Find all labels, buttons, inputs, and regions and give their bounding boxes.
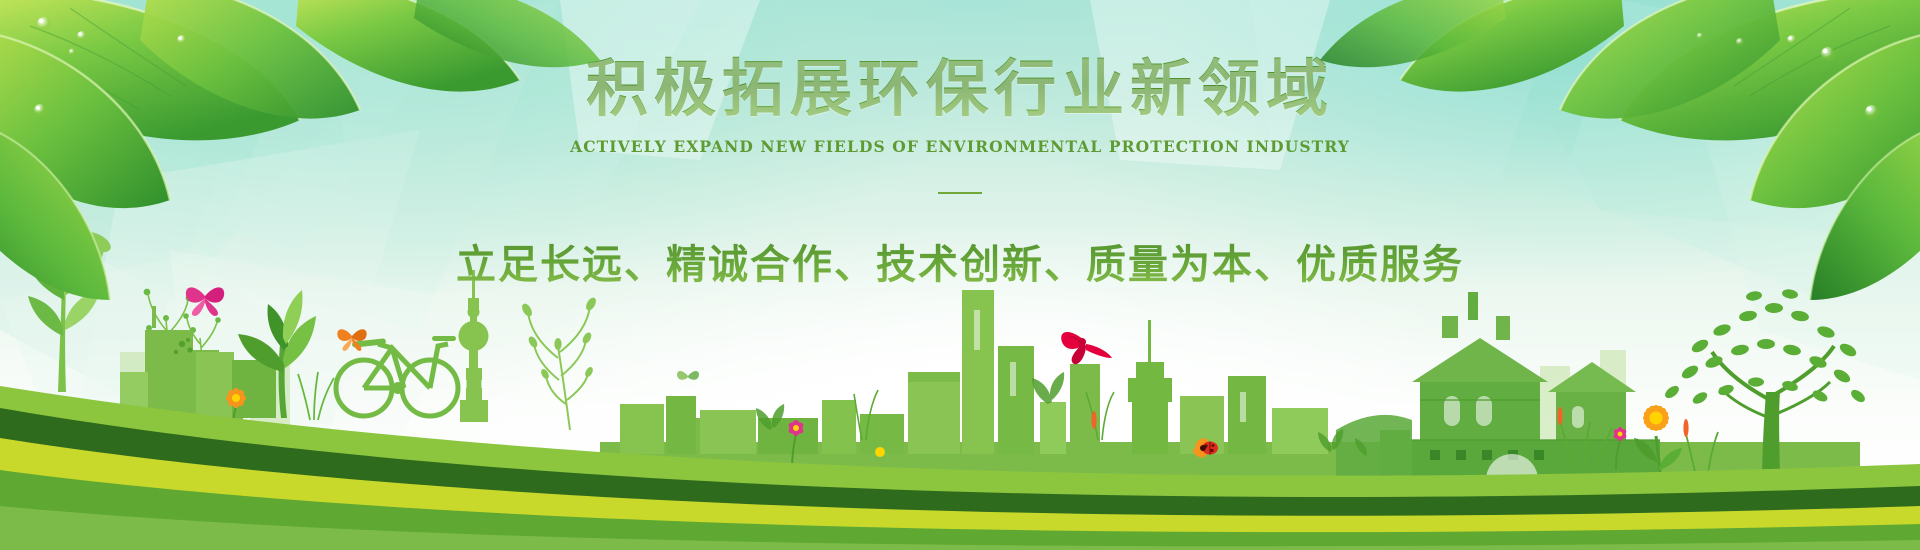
eco-banner: 积极拓展环保行业新领域 ACTIVELY EXPAND NEW FIELDS O…	[0, 0, 1920, 550]
leaves-top-left	[0, 0, 600, 300]
leaves-top-right	[1320, 0, 1920, 300]
leaves-layer	[0, 0, 1920, 550]
